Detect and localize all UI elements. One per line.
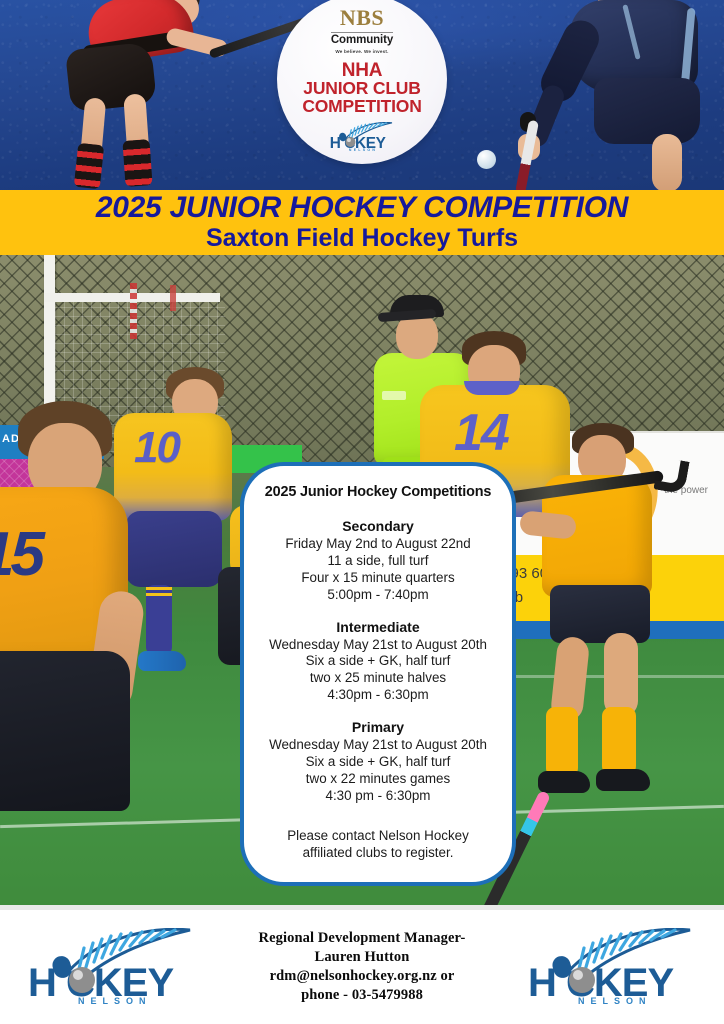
player-left-sock [74,143,104,189]
svg-text:NELSON: NELSON [578,996,652,1006]
nbs-competition-badge: NBS Community We believe. We invest. NHA… [277,0,447,164]
player-shorts [550,585,650,643]
svg-text:NELSON: NELSON [78,996,152,1006]
register-line-1: Please contact Nelson Hockey [254,827,502,844]
section-line: 5:00pm - 7:40pm [254,587,502,604]
photo-player-navy [478,0,708,190]
player-left-sock [546,707,578,777]
register-line-2: affiliated clubs to register. [254,844,502,861]
jersey-number: 15 [0,519,41,590]
main-photo: ADERS lton lack the power nite is 027 29… [0,255,724,910]
player-right-sock [122,139,152,187]
player-arm [519,510,577,540]
svg-text:NELSON: NELSON [349,148,377,152]
section-line: two x 25 minute halves [254,670,502,687]
hockey-nelson-icon: H CKEY NELSON [26,928,198,1006]
nbs-logo-text: NBS [340,7,384,29]
section-line: Six a side + GK, half turf [254,653,502,670]
section-line: Four x 15 minute quarters [254,570,502,587]
competition-section-primary: Primary Wednesday May 21st to August 20t… [254,719,502,805]
referee-badge [382,391,406,400]
corner-marker [130,283,137,339]
panel-register-note: Please contact Nelson Hockey affiliated … [254,827,502,862]
photo-player-15: 15 [0,423,232,910]
contact-role: Regional Development Manager- [259,929,466,948]
hockey-nelson-logo-small: H CKEY NELSON [323,122,401,152]
panel-title: 2025 Junior Hockey Competitions [254,484,502,500]
nha-line-3: COMPETITION [302,98,421,116]
section-line: Friday May 2nd to August 22nd [254,536,502,553]
nbs-divider [331,32,393,33]
section-line: Six a side + GK, half turf [254,754,502,771]
player-right-shoe [596,769,650,791]
section-line: Wednesday May 21st to August 20th [254,737,502,754]
jersey-number: 14 [454,403,508,463]
contact-name: Lauren Hutton [259,948,466,967]
section-line: 4:30 pm - 6:30pm [254,788,502,805]
player-leg [652,134,682,190]
player-right-sock [602,707,636,775]
nha-line-1: NHA [302,61,421,80]
poster-footer: H CKEY NELSON Regional Development Manag… [0,910,724,1024]
hockey-nelson-logo-left: H CKEY NELSON [26,928,198,1006]
contact-phone[interactable]: phone - 03-5479988 [259,986,466,1005]
section-heading: Intermediate [254,619,502,635]
competition-section-secondary: Secondary Friday May 2nd to August 22nd … [254,518,502,604]
hockey-nelson-logo-right: H CKEY NELSON [526,928,698,1006]
player-shorts [0,651,130,811]
hockey-stick-head [653,457,689,495]
nbs-tagline: We believe. We invest. [335,49,388,54]
player-right-leg [604,633,638,717]
jersey-collar [464,381,520,395]
corner-marker [170,285,176,311]
contact-email[interactable]: rdm@nelsonhockey.org.nz or [259,967,466,986]
nha-title-block: NHA JUNIOR CLUB COMPETITION [302,61,421,116]
photo-player-orange [520,435,720,835]
player-left-shoe [538,771,590,793]
section-heading: Secondary [254,518,502,534]
section-line: two x 22 minutes games [254,771,502,788]
nbs-community-text: Community [331,35,393,47]
contact-details: Regional Development Manager- Lauren Hut… [259,929,466,1004]
title-line-1: 2025 JUNIOR HOCKEY COMPETITION [96,193,628,224]
photo-player-red [38,0,228,190]
hockey-nelson-icon: H CKEY NELSON [323,122,401,152]
section-line: Wednesday May 21st to August 20th [254,637,502,654]
hockey-nelson-icon: H CKEY NELSON [526,928,698,1006]
section-line: 4:30pm - 6:30pm [254,687,502,704]
title-line-2: Saxton Field Hockey Turfs [206,225,518,253]
section-heading: Primary [254,719,502,735]
hockey-ball [477,150,496,169]
competition-info-panel: 2025 Junior Hockey Competitions Secondar… [240,462,516,886]
poster-root: NBS Community We believe. We invest. NHA… [0,0,724,1024]
section-line: 11 a side, full turf [254,553,502,570]
main-title-bar: 2025 JUNIOR HOCKEY COMPETITION Saxton Fi… [0,190,724,255]
top-photo-banner: NBS Community We believe. We invest. NHA… [0,0,724,190]
competition-section-intermediate: Intermediate Wednesday May 21st to Augus… [254,619,502,705]
player-shorts-navy [594,78,700,144]
